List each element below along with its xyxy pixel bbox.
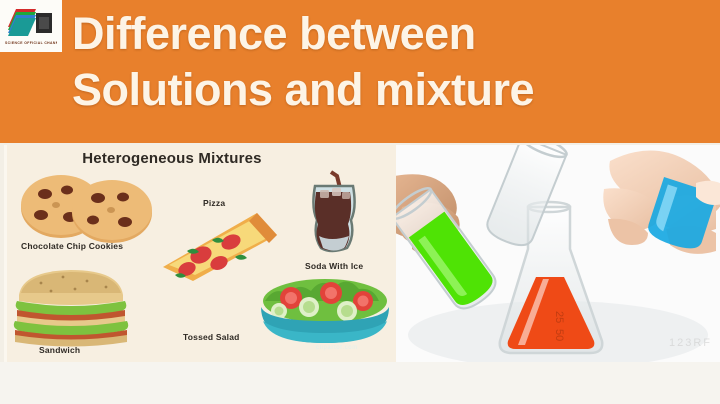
logo-caption: SCIENCE OFFICIAL CHANNEL bbox=[5, 40, 57, 47]
mixtures-panel-title: Heterogeneous Mixtures bbox=[7, 150, 337, 167]
label-sandwich: Sandwich bbox=[39, 345, 80, 355]
page-title: Difference between Solutions and mixture bbox=[72, 6, 712, 118]
header-banner: SCIENCE OFFICIAL CHANNEL Difference betw… bbox=[0, 0, 720, 143]
bottom-bar: Science official Channel Science Officia… bbox=[0, 362, 720, 404]
video-thumbnail: SCIENCE OFFICIAL CHANNEL Difference betw… bbox=[0, 0, 720, 404]
heterogeneous-mixtures-panel: Heterogeneous Mixtures Chocolate Chip Co… bbox=[4, 145, 399, 363]
title-line-1: Difference between bbox=[72, 8, 476, 59]
svg-text:50: 50 bbox=[553, 329, 565, 341]
title-line-2: Solutions and mixture bbox=[72, 62, 712, 118]
sandwich-icon bbox=[11, 265, 139, 347]
cookies-icon bbox=[15, 170, 155, 248]
lab-photo: 25 50 123RF bbox=[396, 145, 720, 363]
logo-books-icon bbox=[6, 5, 56, 39]
lab-illustration: 25 50 bbox=[396, 145, 720, 363]
label-chocolate-chip-cookies: Chocolate Chip Cookies bbox=[21, 241, 123, 251]
label-pizza: Pizza bbox=[203, 198, 225, 208]
mixtures-watermark: clipartof.com bbox=[316, 345, 400, 354]
lab-watermark: 123RF bbox=[669, 337, 712, 349]
soda-glass-icon bbox=[301, 170, 367, 262]
channel-logo: SCIENCE OFFICIAL CHANNEL bbox=[0, 0, 62, 52]
label-tossed-salad: Tossed Salad bbox=[183, 332, 240, 342]
svg-text:25: 25 bbox=[553, 311, 565, 323]
